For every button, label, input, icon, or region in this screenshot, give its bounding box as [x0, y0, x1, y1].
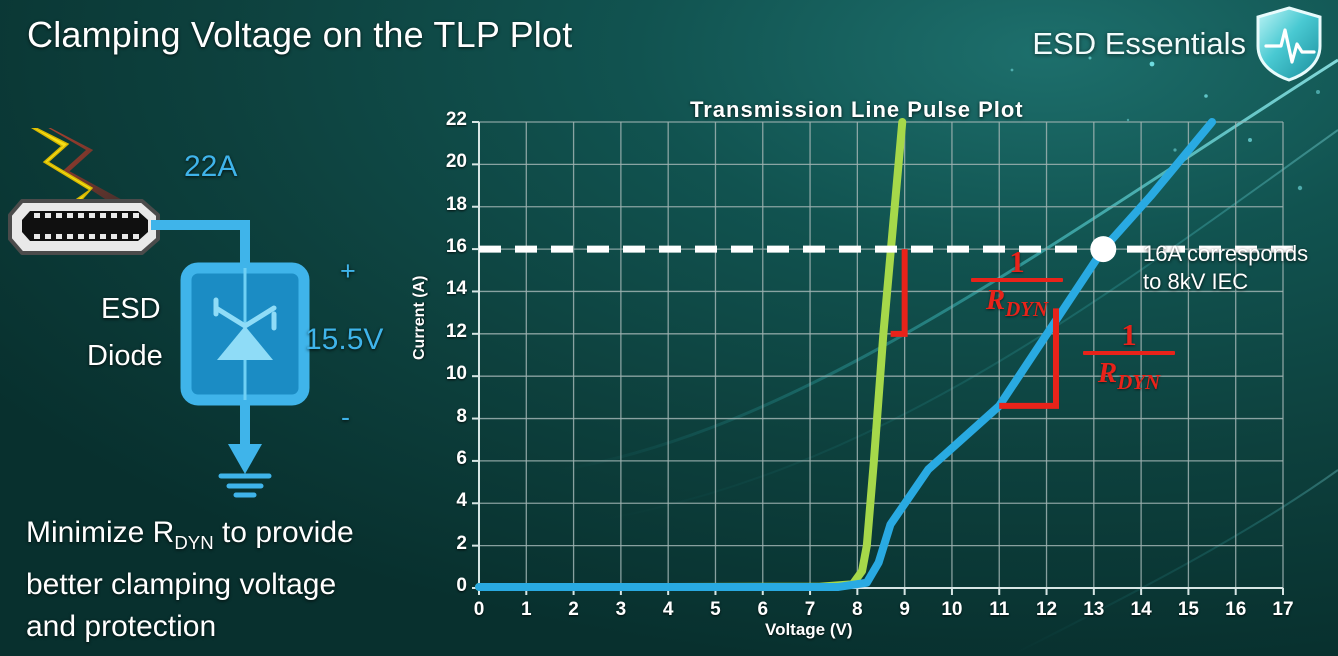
caption-line-3: and protection	[26, 606, 446, 648]
polarity-minus-label: -	[341, 402, 350, 433]
iec-callout-line-2: to 8kV IEC	[1143, 268, 1308, 296]
caption-text: Minimize RDYN to provide better clamping…	[26, 512, 446, 648]
caption-line-1: Minimize RDYN to provide	[26, 512, 446, 564]
slope-numerator: 1	[971, 247, 1063, 277]
caption-line1-pre: Minimize R	[26, 516, 174, 549]
slope-numerator-2: 1	[1083, 320, 1175, 350]
hdmi-connector-icon	[10, 201, 158, 253]
slope-den-sub: DYN	[1005, 297, 1048, 321]
slope-label-steep: 1 RDYN	[971, 247, 1063, 325]
shield-heartbeat-icon	[1254, 6, 1324, 82]
brand-name: ESD Essentials	[1032, 26, 1246, 62]
tvs-diode-icon	[186, 268, 304, 400]
data-point-marker[interactable]	[1090, 236, 1116, 262]
iec-callout: 16A corresponds to 8kV IEC	[1143, 240, 1308, 296]
plot-area	[415, 92, 1338, 656]
caption-line1-sub: DYN	[174, 532, 213, 553]
esd-protection-diagram: 22A ESD Diode 15.5V + -	[0, 128, 420, 508]
slope-den-base-2: R	[1098, 357, 1117, 389]
series-0	[479, 122, 902, 587]
clamp-voltage-label: 15.5V	[305, 323, 383, 357]
ground-icon	[221, 444, 269, 495]
slope-den-base: R	[986, 284, 1005, 316]
brand-lockup: ESD Essentials	[1032, 6, 1324, 82]
caption-line-2: better clamping voltage	[26, 564, 446, 606]
current-label: 22A	[184, 150, 237, 184]
slope-label-shallow: 1 RDYN	[1083, 320, 1175, 398]
device-label-line2: Diode	[87, 340, 163, 373]
polarity-plus-label: +	[340, 256, 356, 287]
slope-denominator-2: RDYN	[1083, 357, 1175, 398]
page-title: Clamping Voltage on the TLP Plot	[27, 14, 572, 56]
iec-callout-line-1: 16A corresponds	[1143, 240, 1308, 268]
slope-denominator: RDYN	[971, 284, 1063, 325]
device-label-line1: ESD	[101, 293, 161, 326]
slope-den-sub-2: DYN	[1117, 370, 1160, 394]
tlp-chart: Transmission Line Pulse Plot Current (A)…	[415, 92, 1338, 656]
caption-line1-post: to provide	[214, 516, 354, 549]
